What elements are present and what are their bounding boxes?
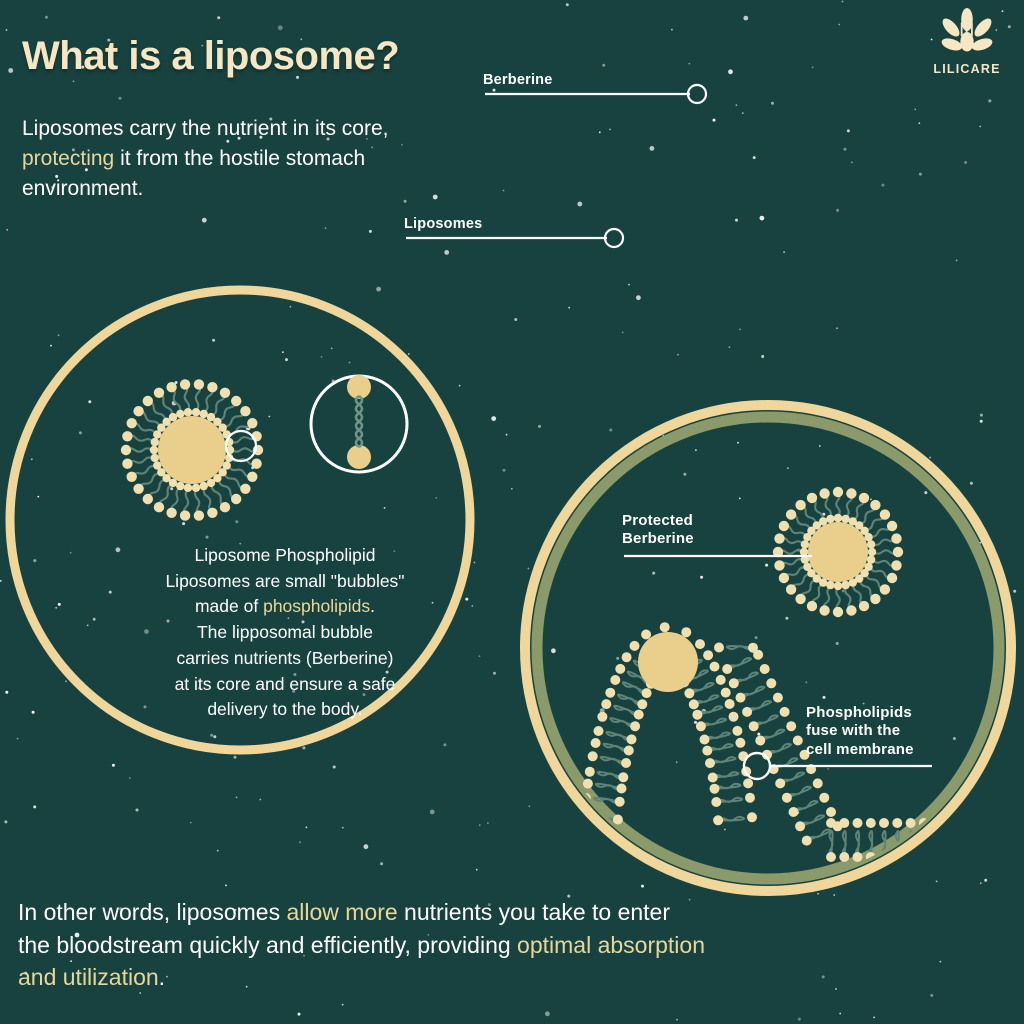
center-line-3: made of phospholipids. xyxy=(120,594,450,620)
page-title: What is a liposome? xyxy=(22,34,399,79)
callout-fuse-line2: fuse with the xyxy=(806,722,914,740)
brand-logo: LILICARE xyxy=(924,8,1010,76)
callout-fuse-line1: Phospholipids xyxy=(806,704,914,722)
footer-part1: In other words, liposomes xyxy=(18,899,286,925)
callout-protected-line2: Berberine xyxy=(622,530,694,548)
callout-liposomes-label: Liposomes xyxy=(404,216,482,232)
center-highlight-phospholipids: phospholipids xyxy=(263,596,370,616)
callout-phospholipids-fuse: Phospholipids fuse with the cell membran… xyxy=(806,704,914,759)
footer-highlight1: allow more xyxy=(286,899,397,925)
liposomes-target-circle xyxy=(605,229,623,247)
center-line-4: The lipposomal bubble xyxy=(120,620,450,646)
intro-highlight: protecting xyxy=(22,147,114,170)
footer-paragraph: In other words, liposomes allow more nut… xyxy=(18,896,708,994)
callout-liposomes: Liposomes xyxy=(404,216,482,234)
lily-flower-icon xyxy=(940,8,994,56)
intro-paragraph: Liposomes carry the nutrient in its core… xyxy=(22,114,462,203)
callout-protected-berberine: Protected Berberine xyxy=(622,512,694,549)
infographic-canvas: LILICARE What is a liposome? Liposomes c… xyxy=(0,0,1024,1024)
center-line-6: at its core and ensure a safe xyxy=(120,672,450,698)
callout-fuse-line3: cell membrane xyxy=(806,741,914,759)
callout-berberine: Berberine xyxy=(483,72,553,90)
brand-name: LILICARE xyxy=(924,62,1010,76)
center-line-5: carries nutrients (Berberine) xyxy=(120,646,450,672)
center-line-7: delivery to the body. xyxy=(120,697,450,723)
center-description: Liposome Phospholipid Liposomes are smal… xyxy=(120,543,450,723)
callout-protected-line1: Protected xyxy=(622,512,694,530)
footer-part3: . xyxy=(159,964,165,990)
callout-berberine-label: Berberine xyxy=(483,72,553,88)
berberine-target-circle xyxy=(688,85,706,103)
center-line-1: Liposome Phospholipid xyxy=(120,543,450,569)
intro-part1: Liposomes carry the nutrient in its core… xyxy=(22,117,389,140)
center-line-2: Liposomes are small "bubbles" xyxy=(120,569,450,595)
